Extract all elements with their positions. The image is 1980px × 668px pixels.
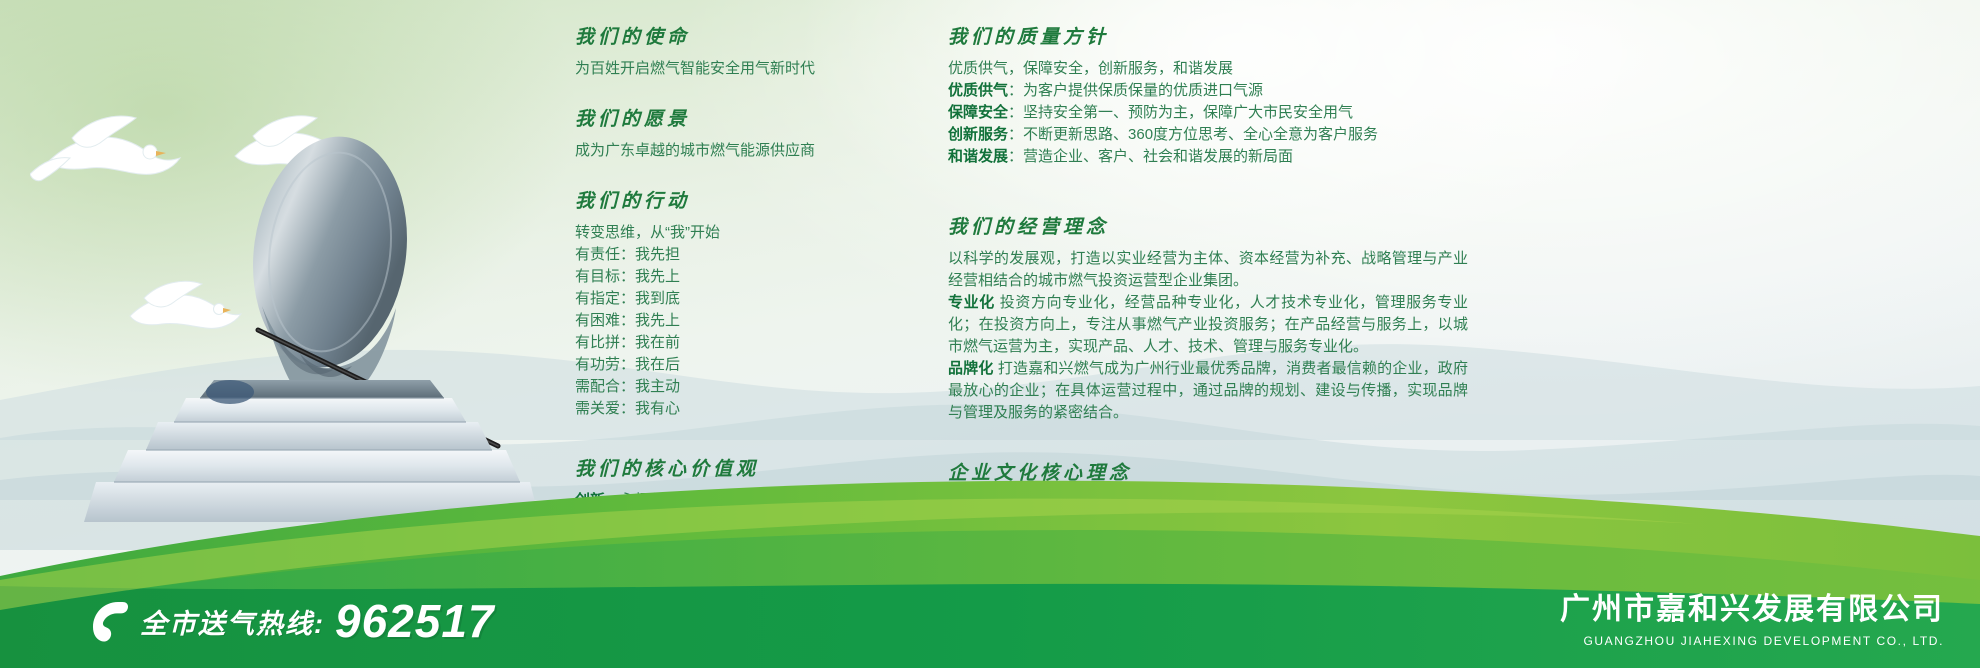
quality-policy-key: 创新服务: [948, 126, 1008, 143]
footer-content: 全市送气热线: 962517 广州市嘉和兴发展有限公司 GUANGZHOU JI…: [0, 548, 1980, 668]
left-text-column: 我们的使命 为百姓开启燃气智能安全用气新时代 我们的愿景 成为广东卓越的城市燃气…: [575, 22, 905, 570]
quality-policy-sep: ：: [1008, 82, 1023, 99]
culture-core-block: 企业文化核心理念 安全供气 追求卓越 创新发展 和谐共进: [948, 458, 1468, 516]
right-text-column: 我们的质量方针 优质供气，保障安全，创新服务，和谐发展 优质供气：为客户提供保质…: [948, 22, 1468, 530]
hotline-group: 全市送气热线: 962517: [88, 598, 495, 644]
company-name-cn: 广州市嘉和兴发展有限公司: [1560, 592, 1944, 628]
management-philosophy-key: 品牌化: [948, 360, 994, 377]
spacer: [948, 438, 1468, 458]
stone-sundial-monument: [0, 130, 540, 530]
mission-heading: 我们的使命: [575, 22, 905, 49]
hotline-number: 962517: [335, 598, 495, 644]
action-line: 需关爱：我有心: [575, 398, 905, 420]
vision-line: 成为广东卓越的城市燃气能源供应商: [575, 140, 905, 162]
vision-block: 我们的愿景 成为广东卓越的城市燃气能源供应商: [575, 104, 905, 162]
background-glow-left: [0, 0, 580, 400]
action-block: 我们的行动 转变思维，从“我”开始 有责任：我先担 有目标：我先上 有指定：我到…: [575, 186, 905, 420]
spacer: [575, 176, 905, 186]
spacer: [575, 94, 905, 104]
hotline-label: 全市送气热线:: [140, 602, 325, 641]
core-value-text: 永恒创新，精细不止: [620, 492, 755, 509]
culture-slogan: 追求卓越: [1022, 496, 1082, 513]
action-line: 有责任：我先担: [575, 244, 905, 266]
spacer: [948, 182, 1468, 212]
core-values-heading: 我们的核心价值观: [575, 454, 905, 481]
phone-handset-icon: [88, 598, 130, 644]
core-value-sep: ：: [605, 514, 620, 531]
quality-policy-key: 和谐发展: [948, 148, 1008, 165]
quality-policy-block: 我们的质量方针 优质供气，保障安全，创新服务，和谐发展 优质供气：为客户提供保质…: [948, 22, 1468, 168]
action-line: 需配合：我主动: [575, 376, 905, 398]
management-philosophy-heading: 我们的经营理念: [948, 212, 1468, 239]
company-identity: 广州市嘉和兴发展有限公司 GUANGZHOU JIAHEXING DEVELOP…: [1560, 592, 1944, 650]
action-line: 转变思维，从“我”开始: [575, 222, 905, 244]
vision-heading: 我们的愿景: [575, 104, 905, 131]
culture-slogan: 和谐共进: [1171, 496, 1231, 513]
spacer: [575, 434, 905, 454]
management-philosophy-intro: 以科学的发展观，打造以实业经营为主体、资本经营为补充、战略管理与产业经营相结合的…: [948, 248, 1468, 292]
quality-policy-text: 为客户提供保质保量的优质进口气源: [1023, 82, 1263, 99]
quality-policy-summary: 优质供气，保障安全，创新服务，和谐发展: [948, 58, 1468, 80]
mission-block: 我们的使命 为百姓开启燃气智能安全用气新时代: [575, 22, 905, 80]
core-value-item: 和谐：和谐共赢: [575, 512, 905, 534]
quality-policy-text: 营造企业、客户、社会和谐发展的新局面: [1023, 148, 1293, 165]
quality-policy-sep: ：: [1008, 148, 1023, 165]
company-name-en: GUANGZHOU JIAHEXING DEVELOPMENT CO., LTD…: [1560, 632, 1944, 650]
dove-icon: [122, 276, 242, 344]
action-line: 有功劳：我在后: [575, 354, 905, 376]
management-philosophy-text: 打造嘉和兴燃气成为广州行业最优秀品牌，消费者最信赖的企业，政府最放心的企业；在具…: [948, 360, 1468, 421]
quality-policy-text: 坚持安全第一、预防为主，保障广大市民安全用气: [1023, 104, 1353, 121]
quality-policy-item: 和谐发展：营造企业、客户、社会和谐发展的新局面: [948, 146, 1468, 168]
quality-policy-text: 不断更新思路、360度方位思考、全心全意为客户服务: [1023, 126, 1378, 143]
core-value-text: 和谐共赢: [620, 514, 680, 531]
culture-core-slogans: 安全供气 追求卓越 创新发展 和谐共进: [948, 494, 1468, 516]
dove-icon: [225, 110, 365, 186]
action-line: 有指定：我到底: [575, 288, 905, 310]
mission-line: 为百姓开启燃气智能安全用气新时代: [575, 58, 905, 80]
poster-canvas: 我们的使命 为百姓开启燃气智能安全用气新时代 我们的愿景 成为广东卓越的城市燃气…: [0, 0, 1980, 668]
quality-policy-item: 优质供气：为客户提供保质保量的优质进口气源: [948, 80, 1468, 102]
action-line: 有比拼：我在前: [575, 332, 905, 354]
culture-slogan: 安全供气: [948, 496, 1008, 513]
management-philosophy-key: 专业化: [948, 294, 995, 311]
dove-icon: [30, 104, 190, 190]
culture-core-heading: 企业文化核心理念: [948, 458, 1468, 485]
quality-policy-item: 创新服务：不断更新思路、360度方位思考、全心全意为客户服务: [948, 124, 1468, 146]
core-value-item: 创新：永恒创新，精细不止: [575, 490, 905, 512]
quality-policy-heading: 我们的质量方针: [948, 22, 1468, 49]
management-philosophy-block: 我们的经营理念 以科学的发展观，打造以实业经营为主体、资本经营为补充、战略管理与…: [948, 212, 1468, 424]
management-philosophy-item: 品牌化 打造嘉和兴燃气成为广州行业最优秀品牌，消费者最信赖的企业，政府最放心的企…: [948, 358, 1468, 424]
quality-policy-item: 保障安全：坚持安全第一、预防为主，保障广大市民安全用气: [948, 102, 1468, 124]
action-line: 有目标：我先上: [575, 266, 905, 288]
management-philosophy-text: 投资方向专业化，经营品种专业化，人才技术专业化，管理服务专业化；在投资方向上，专…: [948, 294, 1468, 355]
action-line: 有困难：我先上: [575, 310, 905, 332]
action-heading: 我们的行动: [575, 186, 905, 213]
quality-policy-sep: ：: [1008, 126, 1023, 143]
management-philosophy-item: 专业化 投资方向专业化，经营品种专业化，人才技术专业化，管理服务专业化；在投资方…: [948, 292, 1468, 358]
core-value-sep: ：: [605, 492, 620, 509]
quality-policy-sep: ：: [1008, 104, 1023, 121]
quality-policy-key: 优质供气: [948, 82, 1008, 99]
core-value-key: 和谐: [575, 514, 605, 531]
core-value-key: 创新: [575, 492, 605, 509]
culture-slogan: 创新发展: [1096, 496, 1156, 513]
quality-policy-key: 保障安全: [948, 104, 1008, 121]
core-values-block: 我们的核心价值观 创新：永恒创新，精细不止 和谐：和谐共赢 坚持：严谨负责，坚持…: [575, 454, 905, 556]
